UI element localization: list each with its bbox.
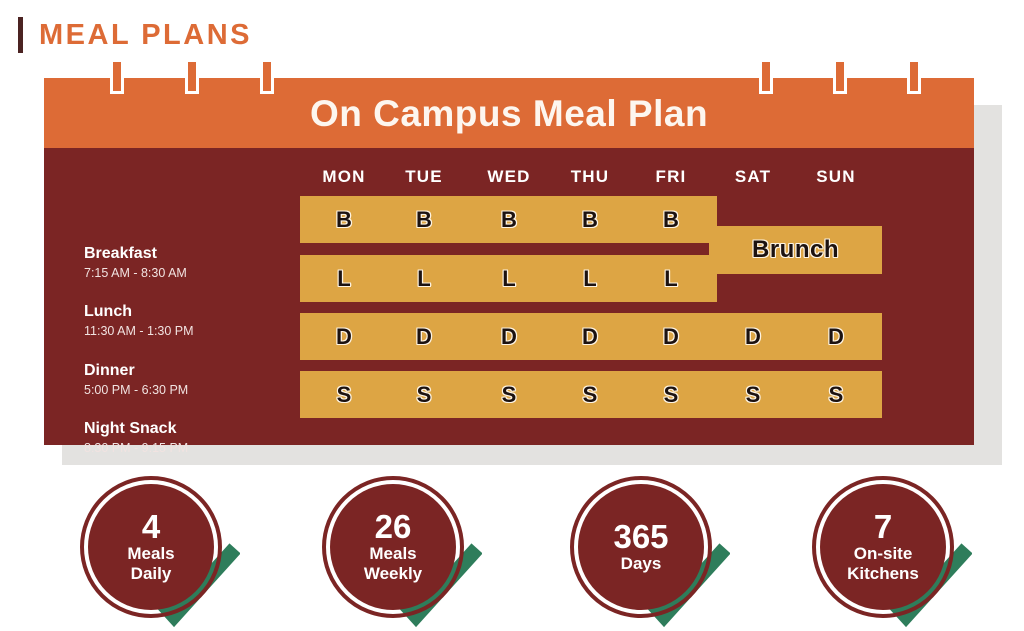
meal-cell-b-mon: B	[314, 209, 374, 231]
badge-caption-line1: On-site	[848, 544, 919, 564]
meal-cell-d-wed: D	[479, 326, 539, 348]
badge-caption-line1: Meals	[363, 544, 422, 564]
meal-cell-l-wed: L	[479, 268, 539, 290]
meal-cell-d-fri: D	[641, 326, 701, 348]
meal-cell-s-sun: S	[806, 384, 866, 406]
meal-cell-d-tue: D	[394, 326, 454, 348]
badge-number: 4	[142, 510, 160, 544]
binder-tab-icon	[110, 62, 124, 94]
meal-cell-s-fri: S	[641, 384, 701, 406]
infographic-stage: MEAL PLANS On Campus Meal Plan MONTUEWED…	[0, 0, 1024, 631]
meal-cell-l-mon: L	[314, 268, 374, 290]
binder-tab-icon	[260, 62, 274, 94]
binder-tab-icon	[185, 62, 199, 94]
binder-tab-icon	[907, 62, 921, 94]
stat-badge-row: 4MealsDaily26MealsWeekly365Days7On-siteK…	[0, 472, 1024, 631]
stat-badge: 7On-siteKitchens	[808, 472, 964, 628]
meal-cell-d-sun: D	[806, 326, 866, 348]
badge-caption-line2: Daily	[125, 564, 178, 584]
card-body: MONTUEWEDTHUFRISATSUN Breakfast7:15 AM -…	[44, 148, 974, 445]
badge-caption-line2: Weekly	[358, 564, 428, 584]
badge-number: 26	[375, 510, 412, 544]
meal-cell-s-wed: S	[479, 384, 539, 406]
binder-tab-icon	[759, 62, 773, 94]
binder-tab-icon	[833, 62, 847, 94]
badge-disc: 4MealsDaily	[88, 484, 214, 610]
meal-cell-d-mon: D	[314, 326, 374, 348]
badge-number: 365	[613, 520, 668, 554]
badge-disc: 365Days	[578, 484, 704, 610]
badge-caption-line1: Days	[615, 554, 668, 574]
meal-cell-s-thu: S	[560, 384, 620, 406]
meal-cell-b-thu: B	[560, 209, 620, 231]
title-accent-bar	[18, 17, 23, 53]
meal-cell-b-tue: B	[394, 209, 454, 231]
meal-cell-l-tue: L	[394, 268, 454, 290]
schedule-grid: BBBBBLLLLLDDDDDDDSSSSSSSBrunch	[44, 148, 974, 445]
meal-cell-d-thu: D	[560, 326, 620, 348]
stat-badge: 4MealsDaily	[76, 472, 232, 628]
badge-disc: 7On-siteKitchens	[820, 484, 946, 610]
badge-number: 7	[874, 510, 892, 544]
badge-caption-line2: Kitchens	[841, 564, 925, 584]
badge-caption-line1: Meals	[121, 544, 180, 564]
meal-plan-card: On Campus Meal Plan MONTUEWEDTHUFRISATSU…	[44, 78, 974, 445]
meal-cell-b-fri: B	[641, 209, 701, 231]
badge-disc: 26MealsWeekly	[330, 484, 456, 610]
stat-badge: 365Days	[566, 472, 722, 628]
meal-cell-d-sat: D	[723, 326, 783, 348]
page-title: MEAL PLANS	[18, 16, 252, 54]
meal-cell-l-thu: L	[560, 268, 620, 290]
brunch-label: Brunch	[752, 236, 839, 264]
meal-cell-l-fri: L	[641, 268, 701, 290]
meal-cell-s-tue: S	[394, 384, 454, 406]
card-title-text: On Campus Meal Plan	[310, 95, 708, 132]
page-title-text: MEAL PLANS	[39, 21, 252, 50]
stat-badge: 26MealsWeekly	[318, 472, 474, 628]
brunch-bar: Brunch	[709, 226, 882, 274]
meal-cell-s-mon: S	[314, 384, 374, 406]
meal-cell-b-wed: B	[479, 209, 539, 231]
meal-cell-s-sat: S	[723, 384, 783, 406]
